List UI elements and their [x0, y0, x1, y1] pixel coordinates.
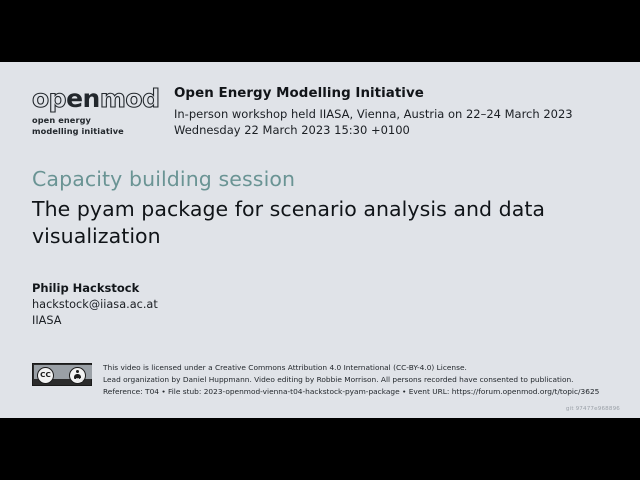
openmod-tagline: open energy modelling initiative: [32, 115, 144, 136]
openmod-wordmark-part2: en: [66, 84, 100, 113]
video-frame: openmod open energy modelling initiative…: [0, 0, 640, 480]
build-stamp: git 97477e968896: [566, 406, 620, 412]
letterbox-bar-top: [0, 0, 640, 62]
openmod-wordmark-part1: op: [32, 84, 66, 113]
license-line-1: This video is licensed under a Creative …: [103, 362, 610, 374]
license-footer: CC BY This video is licensed under a Cre…: [32, 362, 610, 398]
speaker-name: Philip Hackstock: [32, 280, 158, 297]
event-info: Open Energy Modelling Initiative In-pers…: [144, 84, 610, 139]
badge-by-label: BY: [76, 379, 84, 384]
event-organisation: Open Energy Modelling Initiative: [174, 85, 610, 103]
openmod-tagline-line1: open energy: [32, 115, 144, 126]
slide-header: openmod open energy modelling initiative…: [32, 84, 610, 139]
license-text: This video is licensed under a Creative …: [92, 362, 610, 398]
title-slide: openmod open energy modelling initiative…: [0, 62, 640, 418]
person-head: [76, 370, 79, 373]
license-line-2: Lead organization by Daniel Huppmann. Vi…: [103, 374, 610, 386]
session-label: Capacity building session: [32, 166, 612, 192]
speaker-block: Philip Hackstock hackstock@iiasa.ac.at I…: [32, 280, 158, 330]
talk-title: The pyam package for scenario analysis a…: [32, 196, 612, 250]
openmod-tagline-line2: modelling initiative: [32, 126, 144, 137]
event-datetime-line: Wednesday 22 March 2023 15:30 +0100: [174, 122, 610, 139]
creative-commons-by-badge-icon: CC BY: [32, 363, 92, 386]
event-location-line: In-person workshop held IIASA, Vienna, A…: [174, 106, 610, 123]
letterbox-bar-bottom: [0, 418, 640, 480]
cc-glyph-icon: CC: [37, 367, 54, 384]
speaker-affiliation: IIASA: [32, 313, 158, 330]
title-block: Capacity building session The pyam packa…: [32, 166, 612, 250]
openmod-wordmark: openmod: [32, 86, 144, 111]
openmod-logo: openmod open energy modelling initiative: [32, 84, 144, 136]
speaker-email: hackstock@iiasa.ac.at: [32, 297, 158, 314]
license-line-3: Reference: T04 • File stub: 2023-openmod…: [103, 386, 610, 398]
